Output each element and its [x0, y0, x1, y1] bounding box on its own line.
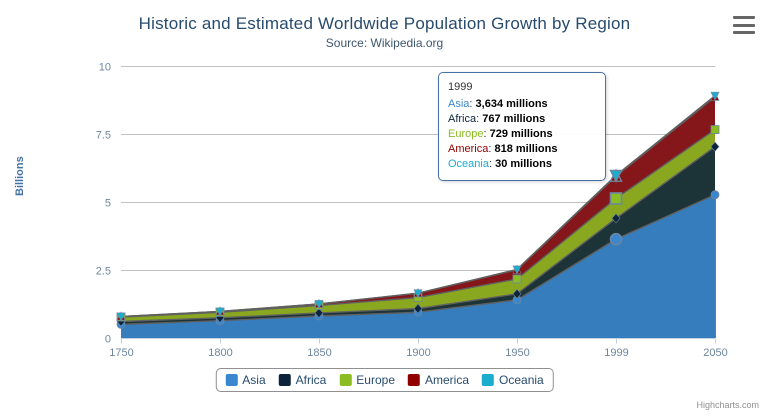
legend-label: Oceania [499, 373, 544, 387]
tooltip-row-oceania: Oceania: 30 millions [448, 157, 596, 172]
point-europe-1950[interactable] [513, 275, 521, 283]
tooltip-series-name: Oceania [448, 158, 489, 170]
tooltip-series-name: America [448, 143, 488, 155]
plot-area: 02.557.5101750180018501900195019992050 [0, 0, 769, 416]
svg-text:1800: 1800 [208, 347, 232, 359]
legend-swatch-america-icon [408, 374, 420, 386]
tooltip-series-value: 767 millions [482, 113, 545, 125]
tooltip-row-europe: Europe: 729 millions [448, 127, 596, 142]
legend-item-africa[interactable]: Africa [279, 373, 327, 387]
tooltip-row-america: America: 818 millions [448, 142, 596, 157]
credits-link[interactable]: Highcharts.com [696, 400, 759, 410]
tooltip-series-value: 3,634 millions [476, 98, 548, 110]
svg-text:1999: 1999 [604, 347, 628, 359]
legend-item-asia[interactable]: Asia [225, 373, 265, 387]
svg-text:1750: 1750 [109, 347, 133, 359]
svg-text:2050: 2050 [703, 347, 727, 359]
legend-swatch-asia-icon [225, 374, 237, 386]
svg-text:10: 10 [99, 62, 111, 74]
legend-label: Europe [356, 373, 395, 387]
legend-label: Africa [296, 373, 327, 387]
svg-text:0: 0 [105, 334, 111, 346]
legend-item-oceania[interactable]: Oceania [482, 373, 544, 387]
legend-swatch-africa-icon [279, 374, 291, 386]
tooltip-row-asia: Asia: 3,634 millions [448, 97, 596, 112]
point-europe-1999[interactable] [611, 193, 622, 204]
legend-label: Asia [242, 373, 265, 387]
tooltip-rows: Asia: 3,634 millionsAfrica: 767 millions… [448, 97, 596, 172]
tooltip-series-name: Africa [448, 113, 476, 125]
legend-item-europe[interactable]: Europe [339, 373, 395, 387]
svg-text:7.5: 7.5 [96, 130, 111, 142]
legend-label: America [425, 373, 469, 387]
chart-legend: AsiaAfricaEuropeAmericaOceania [215, 368, 553, 392]
tooltip-series-name: Europe [448, 128, 483, 140]
tooltip-series-value: 30 millions [495, 158, 552, 170]
svg-text:1850: 1850 [307, 347, 331, 359]
svg-text:2.5: 2.5 [96, 266, 111, 278]
chart-container: Historic and Estimated Worldwide Populat… [0, 0, 769, 416]
svg-text:5: 5 [105, 198, 111, 210]
tooltip-series-name: Asia [448, 98, 469, 110]
svg-text:1900: 1900 [406, 347, 430, 359]
tooltip-series-value: 818 millions [494, 143, 557, 155]
tooltip: 1999 Asia: 3,634 millionsAfrica: 767 mil… [438, 72, 606, 181]
legend-swatch-europe-icon [339, 374, 351, 386]
tooltip-series-value: 729 millions [490, 128, 553, 140]
point-asia-1999[interactable] [611, 234, 622, 245]
svg-text:1950: 1950 [505, 347, 529, 359]
tooltip-row-africa: Africa: 767 millions [448, 112, 596, 127]
legend-item-america[interactable]: America [408, 373, 469, 387]
legend-items: AsiaAfricaEuropeAmericaOceania [225, 373, 543, 387]
point-europe-2050[interactable] [711, 126, 719, 134]
tooltip-header: 1999 [448, 80, 596, 95]
legend-swatch-oceania-icon [482, 374, 494, 386]
